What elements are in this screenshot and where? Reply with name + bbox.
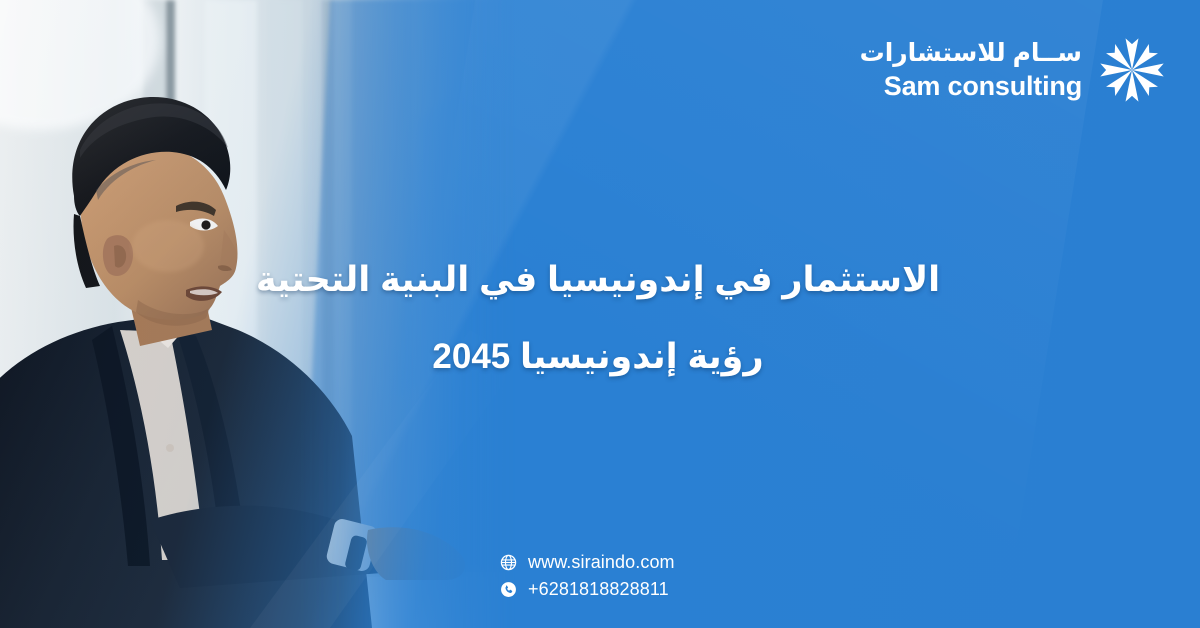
brand-logo: ســام للاستشارات Sam consulting [860, 34, 1168, 106]
brand-name-arabic: ســام للاستشارات [860, 41, 1082, 66]
globe-icon [500, 554, 517, 571]
headline-line-2: رؤية إندونيسيا 2045 [238, 339, 958, 374]
headline-line-1: الاستثمار في إندونيسيا في البنية التحتية [238, 262, 958, 297]
contact-block: www.siraindo.com +6281818828811 [500, 552, 675, 600]
brand-name-english: Sam consulting [884, 73, 1082, 100]
phone-icon [500, 581, 517, 598]
contact-website-row[interactable]: www.siraindo.com [500, 552, 675, 573]
brand-logo-text: ســام للاستشارات Sam consulting [860, 41, 1082, 100]
contact-phone-row[interactable]: +6281818828811 [500, 579, 675, 600]
promotional-banner: ســام للاستشارات Sam consulting [0, 0, 1200, 628]
phone-text: +6281818828811 [528, 579, 669, 600]
website-text: www.siraindo.com [528, 552, 675, 573]
asterisk-starburst-icon [1096, 34, 1168, 106]
headline: الاستثمار في إندونيسيا في البنية التحتية… [238, 262, 958, 374]
